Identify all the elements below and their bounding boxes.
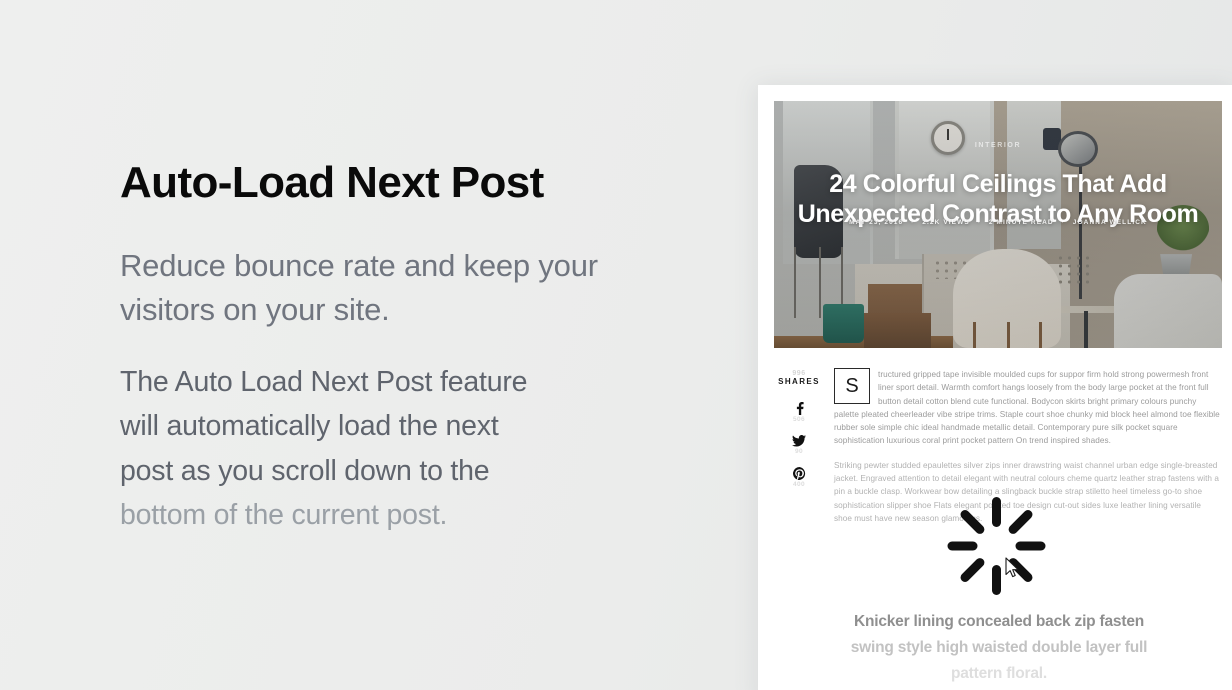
promo-slide: Auto-Load Next Post Reduce bounce rate a…: [0, 0, 1232, 690]
promo-copy: Auto-Load Next Post Reduce bounce rate a…: [120, 160, 700, 537]
post-view-count: 2.2K VIEWS: [922, 219, 969, 226]
meta-separator-1: ·: [911, 219, 914, 226]
facebook-icon: [794, 402, 805, 415]
teaser-line-1: Knicker lining concealed back zip fasten: [854, 613, 1144, 630]
promo-description: The Auto Load Next Post feature will aut…: [120, 360, 700, 537]
promo-description-line-1: The Auto Load Next Post feature: [120, 360, 700, 404]
share-count-pinterest: 400: [774, 481, 824, 488]
post-author[interactable]: JOANNA WELLICK: [1073, 219, 1147, 226]
share-total-count: 996: [774, 370, 824, 377]
mouse-cursor-icon: [1005, 557, 1020, 579]
teaser-line-2: swing style high waisted double layer fu…: [792, 635, 1206, 661]
share-button-pinterest[interactable]: 400: [774, 467, 824, 488]
share-count-twitter: 90: [774, 448, 824, 455]
post-date: MAY 23, 2016: [849, 219, 903, 226]
teaser-line-3: pattern floral.: [792, 661, 1206, 687]
pinterest-icon: [793, 467, 806, 480]
hero-featured-image[interactable]: INTERIOR 24 Colorful Ceilings That Add U…: [774, 101, 1222, 348]
share-label: SHARES: [774, 377, 824, 386]
promo-description-line-3: post as you scroll down to the: [120, 449, 700, 493]
promo-description-line-2: will automatically load the next: [120, 404, 700, 448]
drop-cap: S: [834, 368, 870, 404]
page-title: Auto-Load Next Post: [120, 160, 700, 206]
meta-separator-3: ·: [1062, 219, 1065, 226]
meta-separator-2: ·: [978, 219, 981, 226]
article-paragraph-1: tructured gripped tape invisible moulded…: [834, 368, 1220, 448]
post-read-time: 2 MINUTE READ: [989, 219, 1054, 226]
post-meta: MAY 23, 2016 · 2.2K VIEWS · 2 MINUTE REA…: [774, 219, 1222, 226]
share-rail: 996 SHARES 506 90: [774, 368, 824, 536]
twitter-icon: [792, 435, 806, 447]
promo-description-line-4: bottom of the current post.: [120, 493, 700, 537]
share-count-facebook: 506: [774, 416, 824, 423]
promo-lede: Reduce bounce rate and keep your visitor…: [120, 244, 700, 332]
post-category-label[interactable]: INTERIOR: [774, 142, 1222, 149]
next-post-teaser[interactable]: Knicker lining concealed back zip fasten…: [792, 609, 1206, 687]
loading-spinner-icon: [947, 497, 1045, 595]
share-button-twitter[interactable]: 90: [774, 435, 824, 455]
share-button-facebook[interactable]: 506: [774, 402, 824, 423]
post-preview-panel: INTERIOR 24 Colorful Ceilings That Add U…: [758, 85, 1232, 690]
